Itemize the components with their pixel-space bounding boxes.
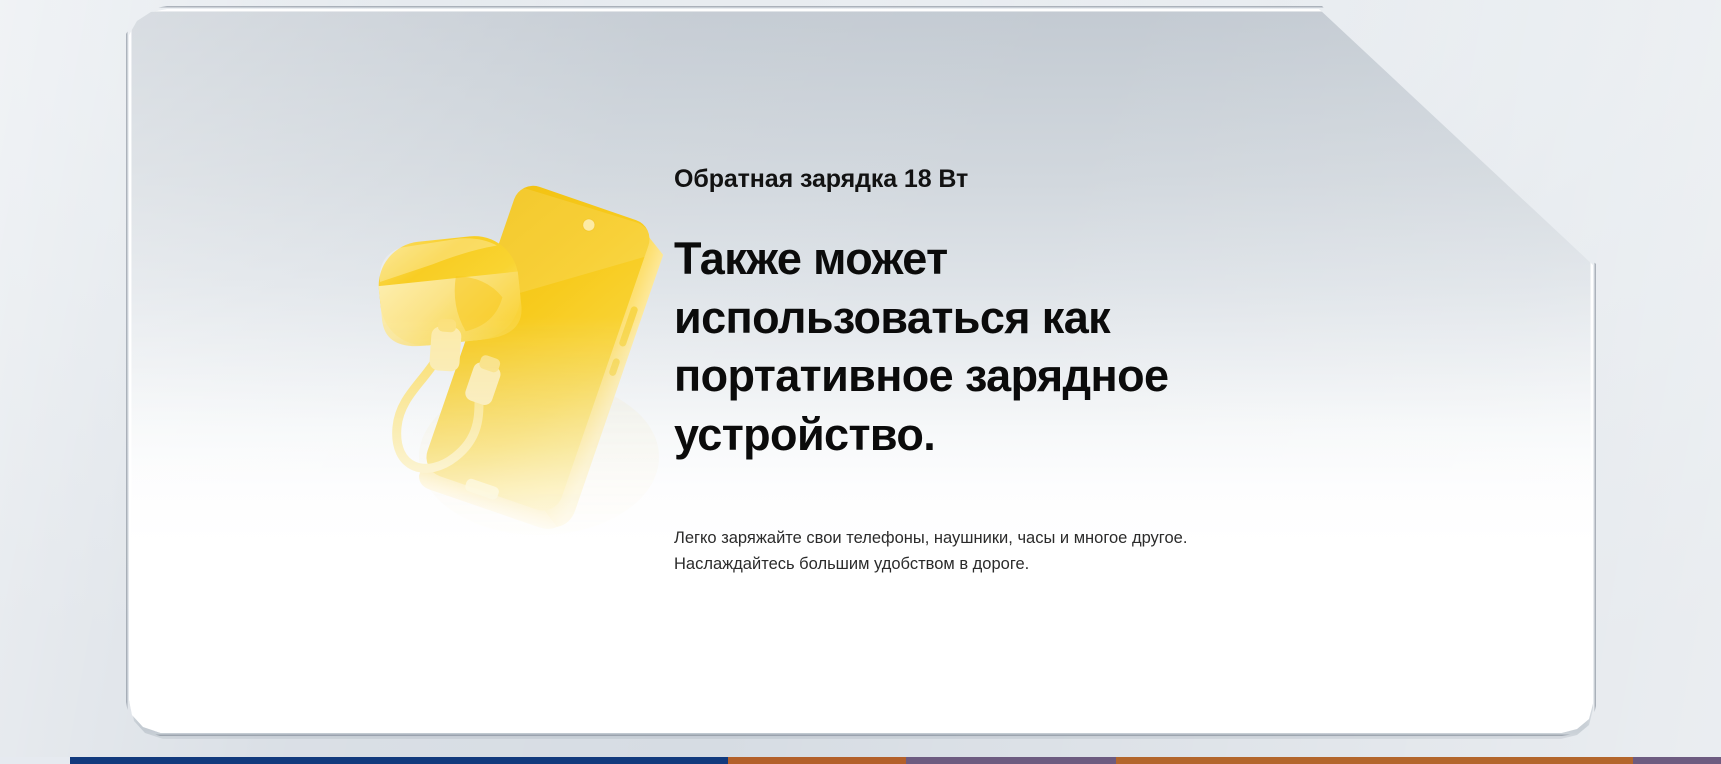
segment-orange-2 bbox=[1116, 757, 1633, 764]
body-text: Легко заряжайте свои телефоны, наушники,… bbox=[674, 526, 1249, 577]
copy-block: Обратная зарядка 18 Вт Также может испол… bbox=[674, 164, 1314, 577]
page-title: Также может использоваться как портативн… bbox=[674, 230, 1254, 464]
segment-light bbox=[0, 757, 70, 764]
feature-card: Обратная зарядка 18 Вт Также может испол… bbox=[129, 9, 1593, 733]
segment-purple-1 bbox=[906, 757, 1116, 764]
product-image bbox=[361, 127, 691, 547]
segment-navy bbox=[70, 757, 728, 764]
segment-purple-2 bbox=[1633, 757, 1721, 764]
eyebrow-text: Обратная зарядка 18 Вт bbox=[674, 164, 1314, 194]
bottom-color-strip bbox=[0, 757, 1721, 764]
hero-banner: Обратная зарядка 18 Вт Также может испол… bbox=[0, 0, 1721, 764]
segment-orange-1 bbox=[728, 757, 906, 764]
